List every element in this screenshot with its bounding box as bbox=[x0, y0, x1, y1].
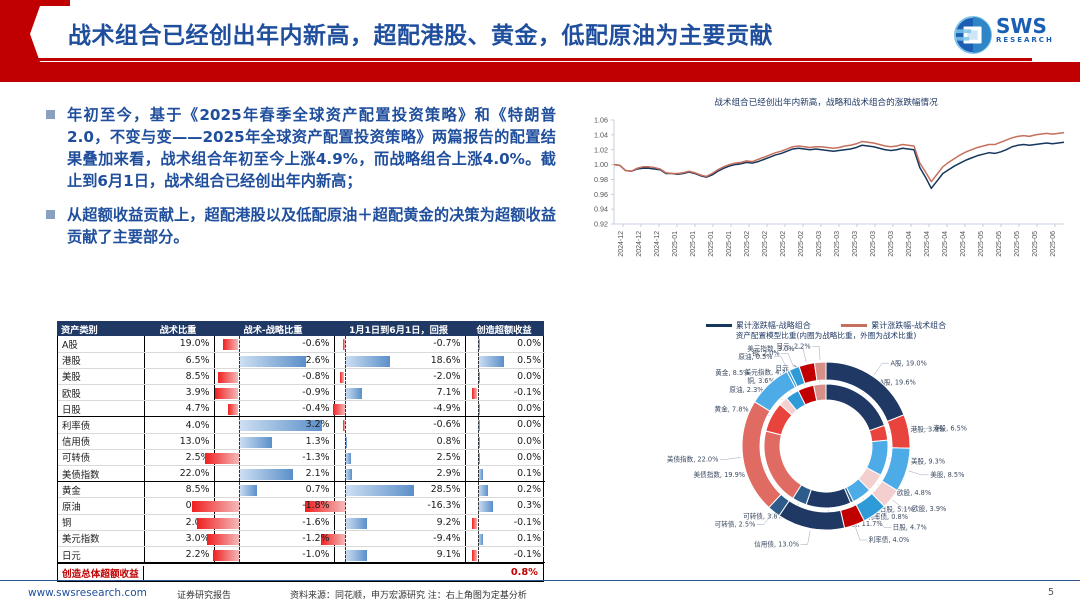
x-tick-label: 2025-02 bbox=[762, 231, 769, 257]
bar-axis bbox=[345, 369, 346, 384]
table-row: 美元指数3.0%-1.2%-9.4%0.1% bbox=[58, 530, 545, 546]
bar-axis bbox=[239, 531, 240, 546]
bar-value: -0.1% bbox=[514, 517, 541, 528]
bar-value: -0.8% bbox=[302, 371, 329, 382]
cell-tactical-weight: 6.5% bbox=[144, 352, 214, 368]
data-bar bbox=[239, 437, 273, 448]
line-chart-axes bbox=[614, 120, 1064, 224]
x-tick-label: 2025-03 bbox=[870, 231, 877, 257]
total-label: 创造总体超额收益 bbox=[58, 566, 144, 580]
table-row: 信用债13.0%1.3%0.8%0.0% bbox=[58, 433, 545, 449]
cell-excess-return: 0.1% bbox=[465, 466, 545, 482]
footer-divider bbox=[0, 580, 1080, 581]
cell-weight-diff: -0.6% bbox=[214, 336, 334, 352]
cell-asset-class: 美股 bbox=[58, 368, 144, 384]
x-tick-label: 2025-03 bbox=[816, 231, 823, 257]
cell-excess-return: -0.1% bbox=[465, 514, 545, 530]
x-tick-label: 2025-02 bbox=[798, 231, 805, 257]
table-body: A股19.0%-0.6%-0.7%0.0%港股6.5%2.6%18.6%0.5%… bbox=[58, 336, 545, 563]
cell-excess-return: 0.2% bbox=[465, 482, 545, 498]
table-row: A股19.0%-0.6%-0.7%0.0% bbox=[58, 336, 545, 352]
bar-axis bbox=[478, 369, 479, 384]
x-tick-label: 2025-01 bbox=[726, 231, 733, 257]
bullet-text: 年初至今，基于《2025年春季全球资产配置投资策略》和《特朗普2.0，不变与变—… bbox=[67, 104, 556, 192]
logo-sub-text: RESEARCH bbox=[996, 36, 1054, 45]
bar-axis bbox=[239, 353, 240, 368]
bar-axis bbox=[239, 369, 240, 384]
x-tick-label: 2025-06 bbox=[1050, 231, 1057, 257]
bar-value: 0.7% bbox=[306, 484, 330, 495]
allocation-table-body: A股19.0%-0.6%-0.7%0.0%港股6.5%2.6%18.6%0.5%… bbox=[58, 336, 545, 563]
sws-logo: SWS RESEARCH bbox=[954, 14, 1066, 56]
bar-axis bbox=[478, 353, 479, 368]
y-tick-label: 1.06 bbox=[594, 116, 608, 125]
bar-axis bbox=[239, 515, 240, 530]
donut-slice-label: 信用债, 13.0% bbox=[754, 539, 799, 548]
data-bar bbox=[239, 485, 257, 496]
bar-value: 2.9% bbox=[437, 468, 461, 479]
legend-label-tactical: 累计涨跌幅-战术组合 bbox=[871, 321, 946, 330]
cell-asset-class: A股 bbox=[58, 336, 144, 352]
cell-return: 7.1% bbox=[334, 385, 465, 401]
y-tick-label: 1.02 bbox=[594, 145, 608, 154]
donut-leader-line bbox=[720, 457, 741, 459]
cell-tactical-weight: 13.0% bbox=[144, 433, 214, 449]
bar-axis bbox=[239, 434, 240, 449]
header-underline bbox=[22, 58, 1032, 61]
x-tick-label: 2025-04 bbox=[906, 231, 913, 257]
legend-label-strategic: 累计涨跌幅-战略组合 bbox=[736, 321, 811, 330]
bar-axis bbox=[345, 482, 346, 497]
x-tick-label: 2025-05 bbox=[996, 231, 1003, 257]
table-row: 日股4.7%-0.4%-4.9%0.0% bbox=[58, 401, 545, 417]
bar-axis bbox=[345, 434, 346, 449]
donut-leader-line bbox=[908, 471, 928, 475]
cell-weight-diff: -1.3% bbox=[214, 449, 334, 465]
bar-axis bbox=[478, 515, 479, 530]
cell-weight-diff: -0.4% bbox=[214, 401, 334, 417]
x-tick-label: 2025-05 bbox=[978, 231, 985, 257]
cell-asset-class: 欧股 bbox=[58, 385, 144, 401]
bar-value: -4.9% bbox=[433, 403, 460, 414]
page-footer: www.swsresearch.com 证券研究报告 资料来源：同花顺，申万宏源… bbox=[0, 583, 1080, 608]
bar-value: -0.1% bbox=[514, 549, 541, 560]
donut-slice-label: 美股, 8.5% bbox=[930, 470, 964, 479]
data-bar bbox=[345, 550, 367, 561]
page-header: 战术组合已经创出年内新高，超配港股、黄金，低配原油为主要贡献 SWS RESEA… bbox=[0, 0, 1080, 82]
table-row: 港股6.5%2.6%18.6%0.5% bbox=[58, 352, 545, 368]
cell-tactical-weight: 3.0% bbox=[144, 530, 214, 546]
data-bar bbox=[478, 501, 494, 512]
bar-axis bbox=[239, 385, 240, 400]
cell-return: 2.5% bbox=[334, 449, 465, 465]
donut-slice-label: 港股, 6.5% bbox=[933, 424, 967, 433]
line-series-strategic bbox=[614, 142, 1064, 188]
bar-axis bbox=[478, 482, 479, 497]
bar-value: 0.0% bbox=[517, 371, 541, 382]
donut-slice-label: 欧股, 4.8% bbox=[897, 488, 931, 497]
y-tick-label: 0.92 bbox=[594, 220, 608, 229]
cell-tactical-weight: 19.0% bbox=[144, 336, 214, 352]
total-value: 0.8% bbox=[144, 567, 543, 578]
bar-value: 0.1% bbox=[517, 533, 541, 544]
cell-asset-class: 可转债 bbox=[58, 449, 144, 465]
allocation-table-wrapper: 资产类别 战术比重 战术-战略比重 1月1日到6月1日，回报 创造超额收益 A股… bbox=[57, 321, 544, 582]
donut-slice[interactable] bbox=[806, 488, 851, 508]
cell-asset-class: 美元指数 bbox=[58, 530, 144, 546]
table-row: 原油0.5%-1.8%-16.3%0.3% bbox=[58, 498, 545, 514]
cell-weight-diff: 2.1% bbox=[214, 466, 334, 482]
cell-return: 28.5% bbox=[334, 482, 465, 498]
bullet-text: 从超额收益贡献上，超配港股以及低配原油＋超配黄金的决策为超额收益贡献了主要部分。 bbox=[67, 204, 556, 248]
bar-value: -16.3% bbox=[427, 500, 460, 511]
cell-return: -9.4% bbox=[334, 530, 465, 546]
data-bar bbox=[207, 534, 238, 545]
cell-return: -0.6% bbox=[334, 417, 465, 433]
donut-slice-label: 美股, 9.3% bbox=[911, 457, 945, 466]
cell-asset-class: 日元 bbox=[58, 546, 144, 562]
y-tick-label: 0.96 bbox=[594, 190, 608, 199]
cell-return: 2.9% bbox=[334, 466, 465, 482]
bar-axis bbox=[239, 498, 240, 513]
data-bar bbox=[218, 372, 239, 383]
bar-value: 2.5% bbox=[437, 452, 461, 463]
cell-weight-diff: -1.0% bbox=[214, 546, 334, 562]
cell-tactical-weight: 3.9% bbox=[144, 385, 214, 401]
cell-return: -4.9% bbox=[334, 401, 465, 417]
x-tick-label: 2024-12 bbox=[654, 231, 661, 257]
x-tick-label: 2025-01 bbox=[690, 231, 697, 257]
bar-axis bbox=[478, 466, 479, 481]
bar-value: 18.6% bbox=[431, 355, 461, 366]
data-bar bbox=[205, 453, 239, 464]
bar-axis bbox=[478, 336, 479, 352]
cell-return: -16.3% bbox=[334, 498, 465, 514]
bar-axis bbox=[239, 417, 240, 432]
col-tactical: 战术比重 bbox=[143, 321, 213, 336]
donut-slice-label: 美债指数, 22.0% bbox=[667, 454, 719, 463]
cell-weight-diff: 3.2% bbox=[214, 417, 334, 433]
data-bar bbox=[239, 356, 307, 367]
x-tick-label: 2025-03 bbox=[852, 231, 859, 257]
cell-tactical-weight: 2.2% bbox=[144, 546, 214, 562]
bar-axis bbox=[345, 450, 346, 465]
bar-value: 9.1% bbox=[437, 549, 461, 560]
bar-value: -1.6% bbox=[302, 517, 329, 528]
table-row: 美债指数22.0%2.1%2.9%0.1% bbox=[58, 466, 545, 482]
donut-leader-line bbox=[801, 531, 811, 545]
cell-excess-return: 0.0% bbox=[465, 417, 545, 433]
data-bar bbox=[478, 356, 504, 367]
x-tick-label: 2025-03 bbox=[834, 231, 841, 257]
footer-source: 资料来源：同花顺，申万宏源研究 注：右上角图为定基分析 bbox=[290, 588, 527, 601]
line-chart-canvas: 0.920.940.960.981.001.021.041.062024-122… bbox=[578, 96, 1074, 314]
cell-return: -2.0% bbox=[334, 368, 465, 384]
footer-url[interactable]: www.swsresearch.com bbox=[28, 587, 147, 599]
footer-report-label: 证券研究报告 bbox=[177, 588, 231, 601]
line-chart-title: 战术组合已经创出年内新高，战略和战术组合的涨跌幅情况 bbox=[578, 96, 1074, 108]
legend-swatch-strategic bbox=[706, 324, 732, 327]
table-row: 日元2.2%-1.0%9.1%-0.1% bbox=[58, 546, 545, 562]
legend-item-tactical: 累计涨跌幅-战术组合 bbox=[841, 321, 946, 330]
sws-logo-mark-icon bbox=[954, 16, 992, 54]
donut-slice-label: 日股, 4.7% bbox=[893, 524, 927, 532]
bar-axis bbox=[345, 531, 346, 546]
bar-value: 2.6% bbox=[306, 355, 330, 366]
x-tick-label: 2025-05 bbox=[1032, 231, 1039, 257]
cell-excess-return: 0.0% bbox=[465, 368, 545, 384]
donut-slice-label: 黄金, 8.5% bbox=[715, 368, 749, 377]
cell-return: 18.6% bbox=[334, 352, 465, 368]
cell-asset-class: 日股 bbox=[58, 401, 144, 417]
bar-value: 0.3% bbox=[517, 500, 541, 511]
table-row: 铜2.0%-1.6%9.2%-0.1% bbox=[58, 514, 545, 530]
table-header: 资产类别 战术比重 战术-战略比重 1月1日到6月1日，回报 创造超额收益 bbox=[57, 321, 544, 336]
x-tick-label: 2025-03 bbox=[888, 231, 895, 257]
bar-value: -0.1% bbox=[514, 387, 541, 398]
bar-axis bbox=[239, 466, 240, 481]
donut-slice-label: 日元, 2.2% bbox=[776, 342, 810, 350]
cell-asset-class: 原油 bbox=[58, 498, 144, 514]
bar-axis bbox=[478, 547, 479, 562]
bar-axis bbox=[345, 515, 346, 530]
cell-asset-class: 利率债 bbox=[58, 417, 144, 433]
bar-axis bbox=[239, 482, 240, 497]
cell-asset-class: 黄金 bbox=[58, 482, 144, 498]
bar-value: 0.5% bbox=[517, 355, 541, 366]
table-row: 可转债2.5%-1.3%2.5%0.0% bbox=[58, 449, 545, 465]
cell-tactical-weight: 22.0% bbox=[144, 466, 214, 482]
bar-axis bbox=[345, 336, 346, 352]
cell-tactical-weight: 4.0% bbox=[144, 417, 214, 433]
logo-main-text: SWS bbox=[996, 16, 1054, 36]
bullet-square-icon bbox=[46, 110, 55, 119]
data-bar bbox=[213, 550, 239, 561]
bar-value: 0.1% bbox=[517, 468, 541, 479]
donut-slice[interactable] bbox=[814, 362, 826, 381]
x-tick-label: 2025-04 bbox=[924, 231, 931, 257]
x-tick-label: 2025-02 bbox=[744, 231, 751, 257]
bar-axis bbox=[478, 498, 479, 513]
cell-return: 9.2% bbox=[334, 514, 465, 530]
bar-value: -0.9% bbox=[302, 387, 329, 398]
bar-value: -0.6% bbox=[433, 419, 460, 430]
sws-logo-text: SWS RESEARCH bbox=[996, 16, 1054, 45]
table-row: 黄金8.5%0.7%28.5%0.2% bbox=[58, 482, 545, 498]
bar-axis bbox=[345, 498, 346, 513]
bar-axis bbox=[345, 353, 346, 368]
donut-slice-label: 黄金, 7.8% bbox=[715, 404, 749, 413]
bar-value: 28.5% bbox=[431, 484, 461, 495]
data-bar bbox=[228, 404, 238, 415]
x-tick-label: 2024-12 bbox=[636, 231, 643, 257]
list-item: 年初至今，基于《2025年春季全球资产配置投资策略》和《特朗普2.0，不变与变—… bbox=[46, 104, 556, 192]
bar-value: -0.7% bbox=[433, 338, 460, 349]
bar-value: 0.0% bbox=[517, 419, 541, 430]
cell-asset-class: 美债指数 bbox=[58, 466, 144, 482]
data-bar bbox=[223, 339, 239, 350]
header-red-bar bbox=[0, 62, 1080, 82]
data-bar bbox=[345, 388, 362, 399]
donut-slice-label: 利率债, 4.0% bbox=[869, 535, 910, 544]
bar-axis bbox=[478, 417, 479, 432]
bar-value: -1.8% bbox=[302, 500, 329, 511]
col-asset-class: 资产类别 bbox=[57, 321, 143, 336]
cell-asset-class: 信用债 bbox=[58, 433, 144, 449]
col-return: 1月1日到6月1日，回报 bbox=[333, 321, 464, 336]
cell-excess-return: -0.1% bbox=[465, 546, 545, 562]
cell-weight-diff: -1.6% bbox=[214, 514, 334, 530]
donut-slice-label: 美债指数, 19.9% bbox=[694, 470, 746, 479]
cell-tactical-weight: 4.7% bbox=[144, 401, 214, 417]
table-row: 利率债4.0%3.2%-0.6%0.0% bbox=[58, 417, 545, 433]
bar-value: 3.2% bbox=[306, 419, 330, 430]
bar-axis bbox=[478, 531, 479, 546]
y-tick-label: 0.94 bbox=[594, 205, 608, 214]
y-tick-label: 0.98 bbox=[594, 175, 608, 184]
cell-excess-return: 0.0% bbox=[465, 401, 545, 417]
bar-axis bbox=[239, 336, 240, 352]
data-bar bbox=[215, 388, 238, 399]
data-bar bbox=[345, 356, 391, 367]
bar-axis bbox=[239, 547, 240, 562]
cell-weight-diff: 0.7% bbox=[214, 482, 334, 498]
bullet-square-icon bbox=[46, 210, 55, 219]
bar-value: -1.0% bbox=[302, 549, 329, 560]
bar-value: 0.2% bbox=[517, 484, 541, 495]
bar-axis bbox=[478, 434, 479, 449]
data-bar bbox=[239, 469, 294, 480]
x-tick-label: 2025-01 bbox=[672, 231, 679, 257]
x-tick-label: 2025-02 bbox=[780, 231, 787, 257]
cell-asset-class: 港股 bbox=[58, 352, 144, 368]
bar-value: 9.2% bbox=[437, 517, 461, 528]
bar-value: 0.8% bbox=[437, 436, 461, 447]
bar-value: 2.1% bbox=[306, 468, 330, 479]
table-row: 美股8.5%-0.8%-2.0%0.0% bbox=[58, 368, 545, 384]
donut-slice[interactable] bbox=[887, 415, 910, 448]
bar-axis bbox=[478, 385, 479, 400]
bar-value: 7.1% bbox=[437, 387, 461, 398]
x-tick-label: 2025-04 bbox=[960, 231, 967, 257]
allocation-table: 资产类别 战术比重 战术-战略比重 1月1日到6月1日，回报 创造超额收益 bbox=[57, 321, 544, 336]
x-tick-label: 2025-01 bbox=[708, 231, 715, 257]
bar-value: -0.4% bbox=[302, 403, 329, 414]
donut-slice-label: 原油, 2.3% bbox=[729, 385, 763, 394]
cell-tactical-weight: 8.5% bbox=[144, 482, 214, 498]
cell-weight-diff: -1.2% bbox=[214, 530, 334, 546]
cell-tactical-weight: 8.5% bbox=[144, 368, 214, 384]
data-bar bbox=[345, 469, 352, 480]
donut-leader-line bbox=[855, 527, 867, 540]
bar-value: 0.0% bbox=[517, 452, 541, 463]
legend-item-strategic: 累计涨跌幅-战略组合 bbox=[706, 321, 811, 330]
x-tick-label: 2025-04 bbox=[942, 231, 949, 257]
cell-tactical-weight: 2.5% bbox=[144, 449, 214, 465]
bar-value: -0.6% bbox=[302, 338, 329, 349]
page-number: 5 bbox=[1048, 587, 1054, 598]
bar-axis bbox=[239, 401, 240, 416]
bar-axis bbox=[345, 466, 346, 481]
bar-value: 0.0% bbox=[517, 436, 541, 447]
bar-value: -1.2% bbox=[302, 533, 329, 544]
bar-value: 0.0% bbox=[517, 338, 541, 349]
donut-leader-line bbox=[796, 349, 806, 363]
data-bar bbox=[197, 518, 239, 529]
donut-slice-label: 欧股, 3.9% bbox=[912, 504, 946, 513]
bullet-list: 年初至今，基于《2025年春季全球资产配置投资策略》和《特朗普2.0，不变与变—… bbox=[46, 104, 556, 260]
data-bar bbox=[345, 518, 368, 529]
cell-weight-diff: -0.9% bbox=[214, 385, 334, 401]
bar-axis bbox=[478, 401, 479, 416]
y-tick-label: 1.00 bbox=[594, 160, 608, 169]
bar-axis bbox=[478, 450, 479, 465]
bar-axis bbox=[345, 401, 346, 416]
cell-weight-diff: -0.8% bbox=[214, 368, 334, 384]
col-diff: 战术-战略比重 bbox=[213, 321, 333, 336]
bar-axis bbox=[345, 385, 346, 400]
cell-excess-return: 0.3% bbox=[465, 498, 545, 514]
data-bar bbox=[345, 485, 415, 496]
data-bar bbox=[478, 485, 488, 496]
bar-value: -9.4% bbox=[433, 533, 460, 544]
bar-value: 1.3% bbox=[306, 436, 330, 447]
bar-value: 0.0% bbox=[517, 403, 541, 414]
bar-axis bbox=[345, 417, 346, 432]
cell-weight-diff: 1.3% bbox=[214, 433, 334, 449]
donut-leader-line bbox=[812, 346, 820, 360]
donut-chart-title: 资产配置模型比重(内圈为战略比重，外圈为战术比重) bbox=[578, 330, 1074, 341]
donut-slice-label: 可转债, 2.5% bbox=[715, 520, 756, 529]
donut-slice-label: A股, 19.6% bbox=[880, 379, 916, 387]
cell-return: 9.1% bbox=[334, 546, 465, 562]
x-tick-label: 2025-05 bbox=[1014, 231, 1021, 257]
page-title: 战术组合已经创出年内新高，超配港股、黄金，低配原油为主要贡献 bbox=[68, 16, 888, 56]
data-bar bbox=[333, 404, 345, 415]
bar-axis bbox=[345, 547, 346, 562]
data-bar bbox=[192, 501, 239, 512]
col-excess: 创造超额收益 bbox=[464, 321, 544, 336]
y-tick-label: 1.04 bbox=[594, 130, 608, 139]
allocation-donut-chart: 资产配置模型比重(内圈为战略比重，外圈为战术比重) A股, 19.6%港股, 3… bbox=[578, 330, 1074, 570]
x-tick-label: 2024-12 bbox=[618, 231, 625, 257]
cell-weight-diff: 2.6% bbox=[214, 352, 334, 368]
legend-swatch-tactical bbox=[841, 324, 867, 327]
cell-return: -0.7% bbox=[334, 336, 465, 352]
donut-leader-line bbox=[874, 363, 889, 375]
cell-excess-return: 0.5% bbox=[465, 352, 545, 368]
cell-asset-class: 铜 bbox=[58, 514, 144, 530]
cumulative-return-chart: 战术组合已经创出年内新高，战略和战术组合的涨跌幅情况 0.920.940.960… bbox=[578, 96, 1074, 334]
table-body-border: A股19.0%-0.6%-0.7%0.0%港股6.5%2.6%18.6%0.5%… bbox=[57, 336, 544, 564]
donut-chart-canvas: A股, 19.6%港股, 3.9%美股, 9.3%欧股, 4.8%日股, 5.1… bbox=[578, 330, 1074, 562]
cell-excess-return: 0.0% bbox=[465, 336, 545, 352]
cell-excess-return: 0.0% bbox=[465, 433, 545, 449]
cell-excess-return: 0.1% bbox=[465, 530, 545, 546]
table-row: 欧股3.9%-0.9%7.1%-0.1% bbox=[58, 385, 545, 401]
bar-axis bbox=[239, 450, 240, 465]
donut-slice-label: A股, 19.0% bbox=[891, 359, 927, 367]
bar-value: -1.3% bbox=[302, 452, 329, 463]
list-item: 从超额收益贡献上，超配港股以及低配原油＋超配黄金的决策为超额收益贡献了主要部分。 bbox=[46, 204, 556, 248]
cell-excess-return: -0.1% bbox=[465, 385, 545, 401]
bar-value: -2.0% bbox=[433, 371, 460, 382]
cell-excess-return: 0.0% bbox=[465, 449, 545, 465]
cell-return: 0.8% bbox=[334, 433, 465, 449]
